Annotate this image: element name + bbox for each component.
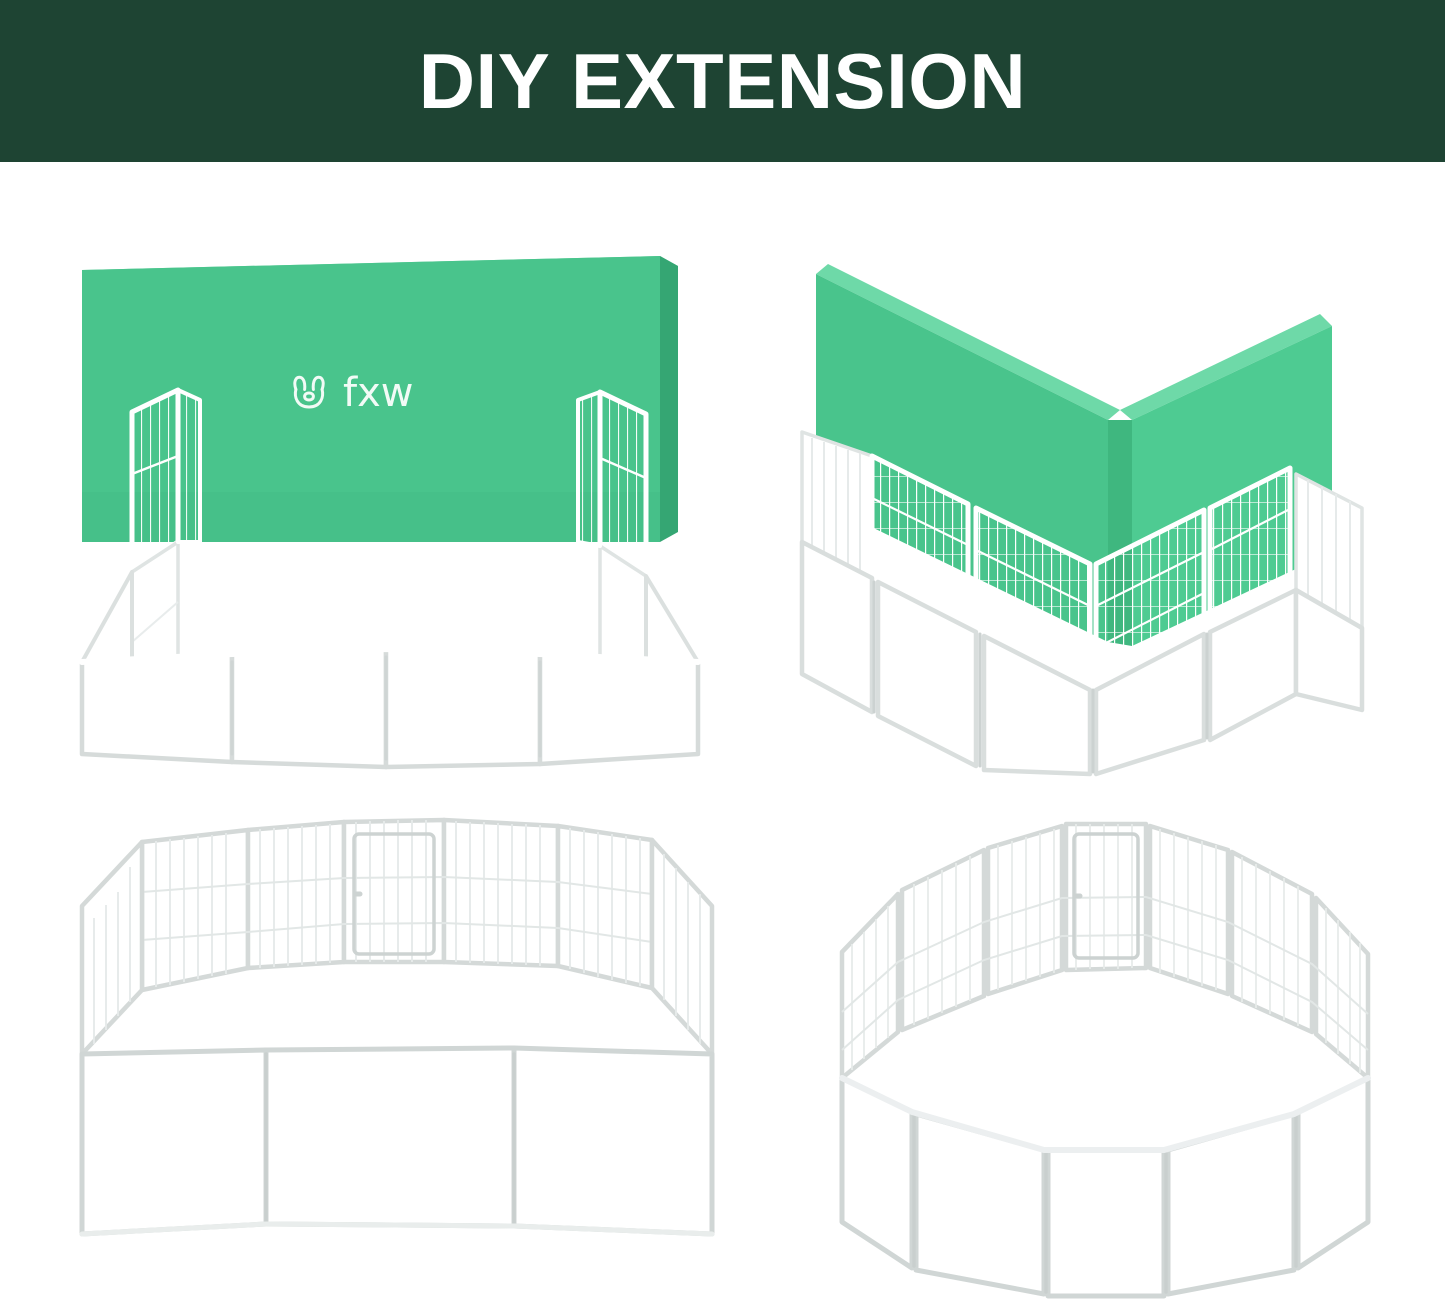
panel-oct-5 [1232,852,1312,1032]
fence-panel-right-wing [600,392,646,694]
dog-head-icon [288,372,330,414]
infographic-page: DIY EXTENSION [0,0,1445,1313]
scene-playpen-against-straight-wall: fxw [60,242,720,802]
panel-back-4 [558,826,652,988]
panel-side-right [652,840,712,1054]
brand-logo: fxw [288,372,413,414]
panel-oct-9 [1048,1150,1164,1296]
pen-front-row [82,1048,712,1234]
scene-freestanding-octagonal-playpen [790,782,1390,1302]
panel-back-1 [142,830,248,990]
pen-rectangle [142,820,652,990]
panel-side-left [82,842,142,1054]
panel-back-door [344,820,444,962]
scene-freestanding-rectangular-playpen [60,782,720,1302]
page-title: DIY EXTENSION [419,42,1027,120]
panel-oct-8 [916,1114,1044,1294]
header-banner: DIY EXTENSION [0,0,1445,162]
scene-grid: fxw [0,162,1445,1313]
octagon-front-panels [842,1078,1368,1296]
scene-playpen-against-corner-wall [790,242,1390,802]
brand-wordmark: fxw [343,373,413,413]
fence-front-row [82,649,698,767]
